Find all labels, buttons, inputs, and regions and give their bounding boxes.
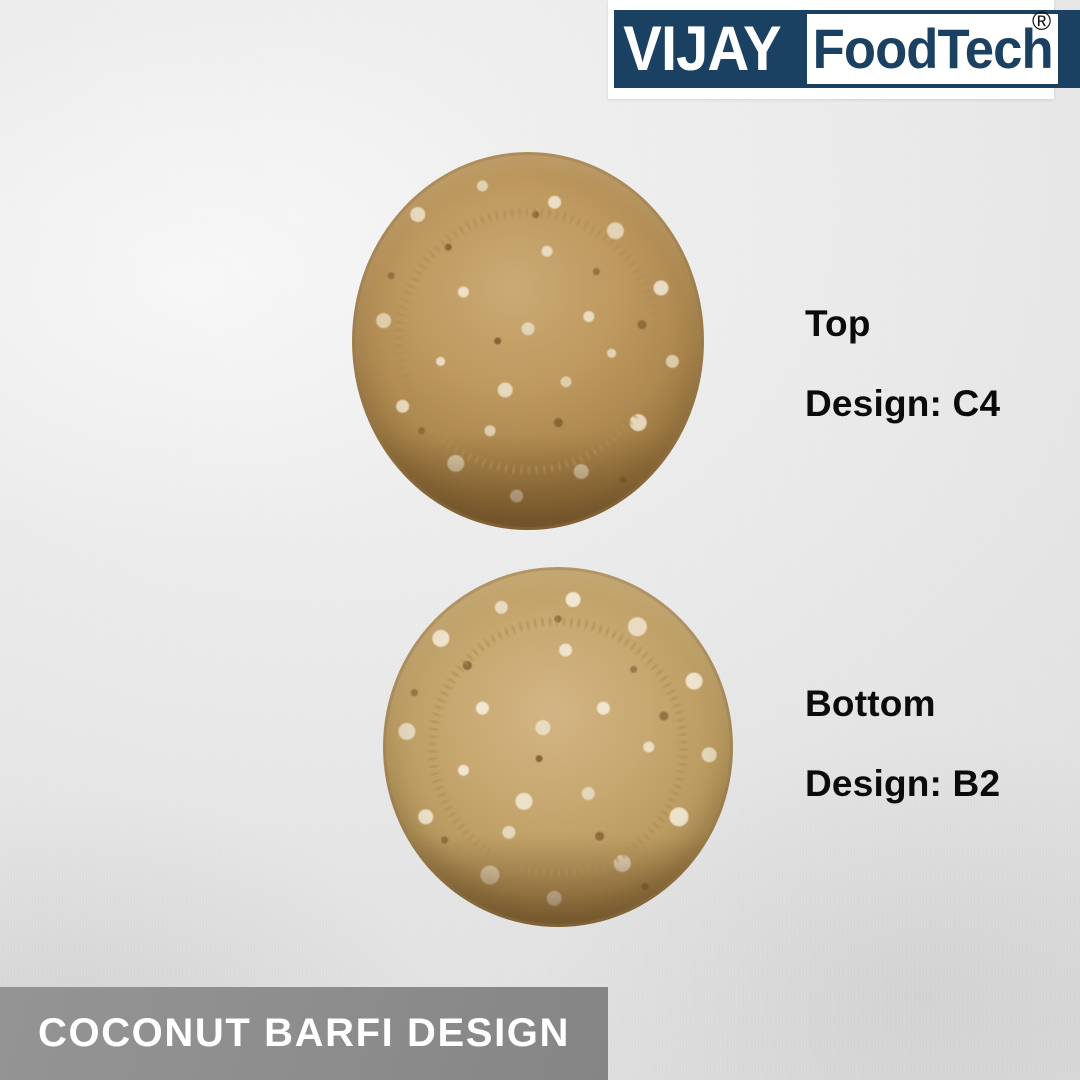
annotation-bottom-design-label: Design: B2 xyxy=(805,765,1000,802)
barfi-piece-bottom xyxy=(383,567,733,927)
brand-logo-inner: VIJAY FoodTech xyxy=(614,10,1022,88)
annotation-top-design-label: Design: C4 xyxy=(805,385,1000,422)
barfi-top-body xyxy=(352,152,704,530)
registered-trademark-icon: ® xyxy=(1032,6,1051,37)
brand-logo: VIJAY FoodTech ® xyxy=(608,0,1054,99)
annotation-top-face-label: Top xyxy=(805,303,871,344)
annotation-bottom-face-label: Bottom xyxy=(805,683,936,724)
product-photo-canvas: VIJAY FoodTech ® Top Design: C4 xyxy=(0,0,1080,1080)
caption-text: COCONUT BARFI DESIGN xyxy=(0,1011,570,1056)
annotation-top: Top Design: C4 xyxy=(805,305,1000,422)
brand-name-secondary: FoodTech xyxy=(807,14,1058,84)
barfi-top-coconut-flecks xyxy=(352,152,704,530)
barfi-bottom-coconut-flecks xyxy=(383,567,733,927)
barfi-bottom-body xyxy=(383,567,733,927)
caption-banner: COCONUT BARFI DESIGN xyxy=(0,987,608,1080)
annotation-bottom: Bottom Design: B2 xyxy=(805,685,1000,802)
brand-name-primary-panel: VIJAY xyxy=(614,10,805,88)
barfi-piece-top xyxy=(352,152,704,530)
brand-name-primary: VIJAY xyxy=(614,10,786,88)
